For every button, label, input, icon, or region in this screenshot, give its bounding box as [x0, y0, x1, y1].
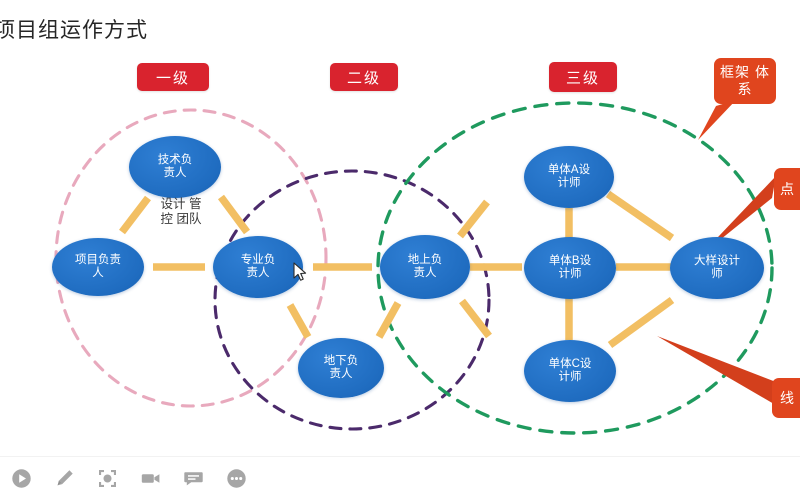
chat-bubble-icon[interactable] — [183, 468, 204, 489]
line-callout-pointer — [657, 336, 776, 404]
node-line: 责人 — [324, 368, 359, 381]
node-line: 责人 — [158, 167, 193, 180]
group-label-line: 团队 — [176, 212, 201, 226]
callout-line: 框架 — [720, 64, 750, 80]
slide-canvas: 项目组运作方式 一级 二级 三级 — [0, 0, 800, 500]
callout-line: 线 — [780, 390, 795, 407]
group-label-line: 设计 — [160, 197, 185, 211]
node-unit-b-designer[interactable]: 单体B设 计师 — [524, 237, 616, 299]
framework-callout-pointer — [698, 100, 736, 140]
callout-line: 点 — [780, 181, 795, 198]
connector-aboveground-unitc — [462, 301, 489, 336]
node-line: 责人 — [241, 267, 276, 280]
node-line: 计师 — [549, 268, 591, 281]
node-detail-designer[interactable]: 大样设计 师 — [670, 237, 764, 299]
node-unit-c-designer[interactable]: 单体C设 计师 — [524, 340, 616, 402]
node-line: 地下负 — [324, 355, 359, 368]
pencil-icon[interactable] — [54, 468, 75, 489]
node-project-lead[interactable]: 项目负责 人 — [52, 238, 144, 296]
node-line: 技术负 — [158, 154, 193, 167]
node-line: 地上负 — [408, 254, 443, 267]
node-line: 项目负责 — [75, 254, 121, 267]
connector-project-technical — [122, 198, 148, 232]
node-aboveground-lead[interactable]: 地上负 责人 — [380, 235, 470, 299]
callout-framework-system[interactable]: 框架 体系 — [714, 58, 776, 104]
screenshot-frame-icon[interactable] — [97, 468, 118, 489]
node-line: 单体C设 — [549, 358, 592, 371]
connector-technical-professional — [221, 197, 247, 232]
design-control-team-label: 设计 管控 团队 — [158, 197, 204, 228]
callout-point[interactable]: 点 — [774, 168, 800, 210]
ellipsis-circle-icon[interactable] — [226, 468, 247, 489]
bottom-toolbar — [0, 456, 800, 500]
node-line: 大样设计 — [694, 255, 740, 268]
node-unit-a-designer[interactable]: 单体A设 计师 — [524, 146, 614, 208]
node-underground-lead[interactable]: 地下负 责人 — [298, 338, 384, 398]
connector-underground-aboveground — [379, 303, 398, 337]
node-line: 计师 — [548, 177, 590, 190]
node-technical-lead[interactable]: 技术负 责人 — [129, 136, 221, 198]
node-line: 单体B设 — [549, 255, 591, 268]
callout-line-element[interactable]: 线 — [772, 378, 800, 418]
connector-aboveground-unita — [460, 202, 487, 236]
node-line: 责人 — [408, 267, 443, 280]
video-camera-icon[interactable] — [140, 468, 161, 489]
node-line: 单体A设 — [548, 164, 590, 177]
play-circle-icon[interactable] — [11, 468, 32, 489]
mouse-cursor — [293, 262, 309, 282]
node-line: 人 — [75, 267, 121, 280]
connector-unita-detail — [608, 194, 672, 238]
node-line: 计师 — [549, 371, 592, 384]
node-professional-lead[interactable]: 专业负 责人 — [213, 236, 303, 298]
connector-professional-underground — [290, 305, 308, 337]
node-line: 师 — [694, 268, 740, 281]
node-line: 专业负 — [241, 254, 276, 267]
